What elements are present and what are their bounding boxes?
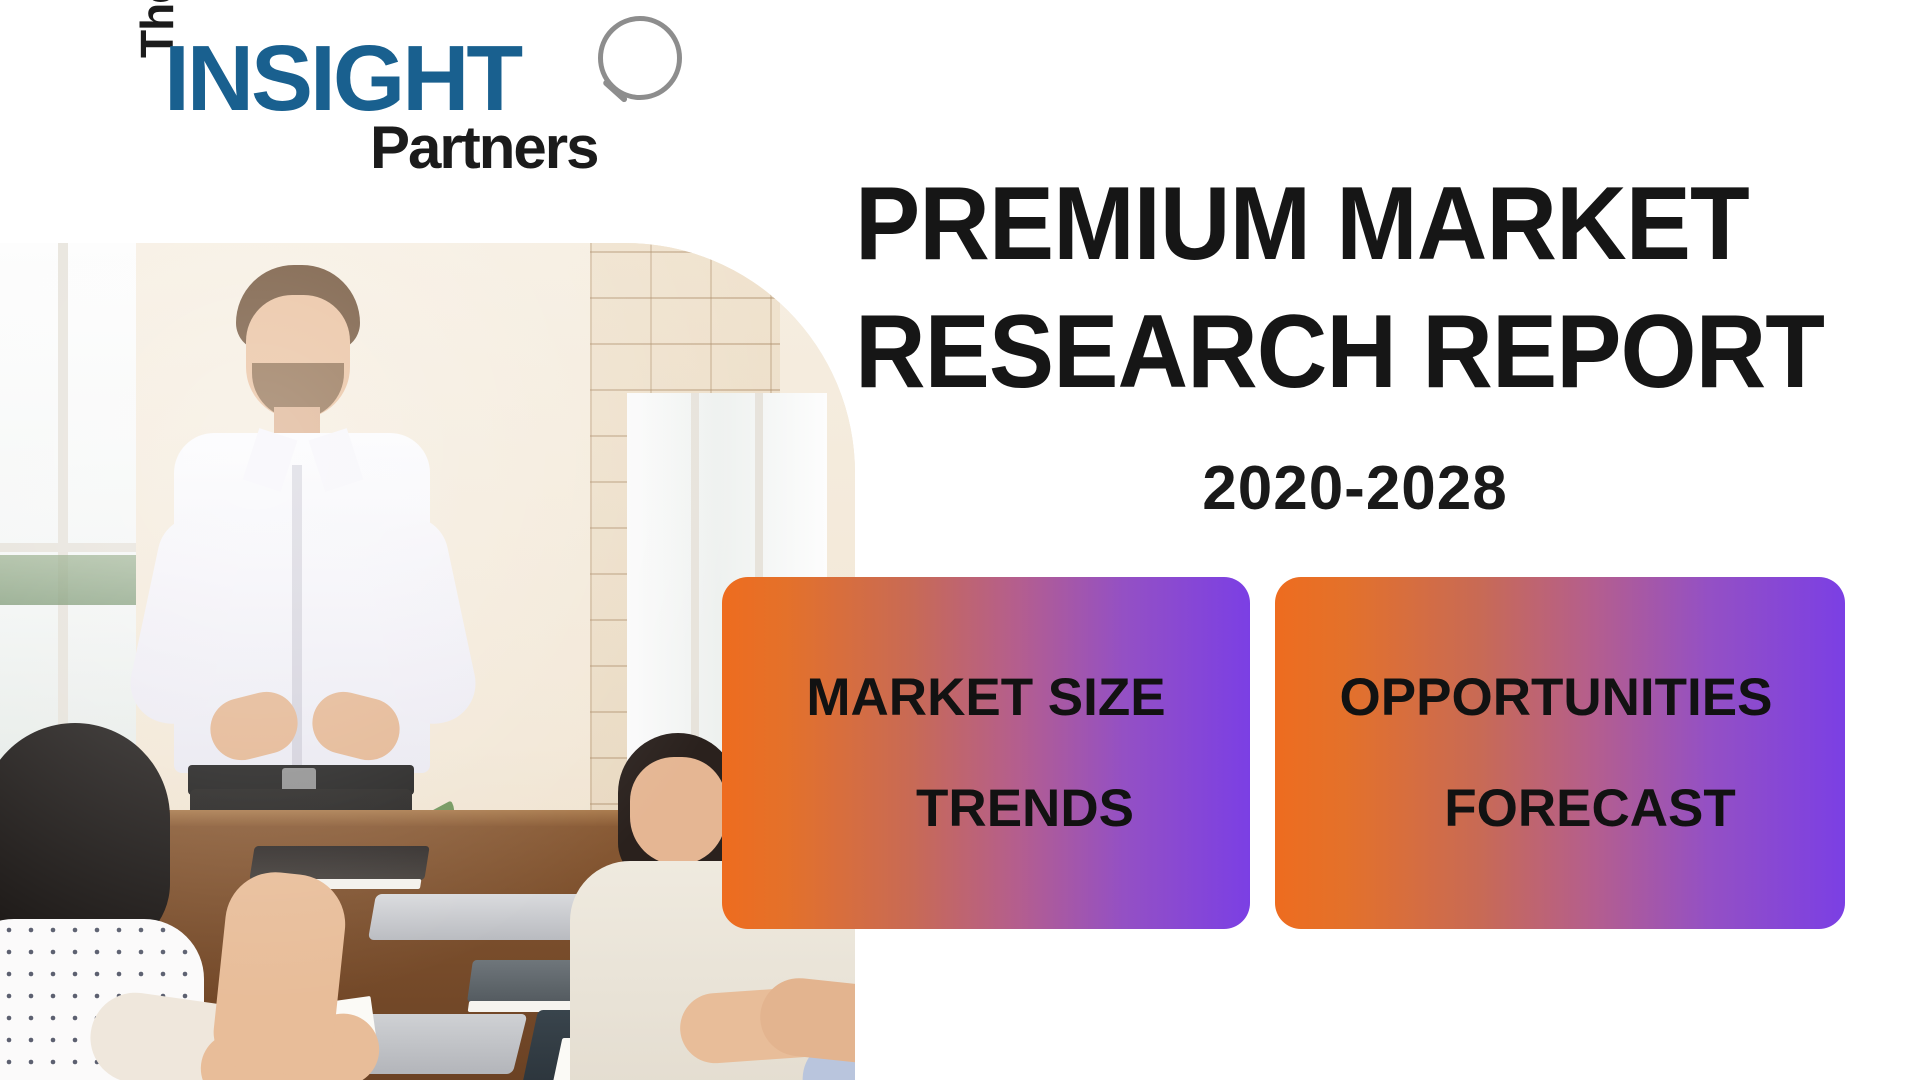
woman-right-face xyxy=(630,757,726,865)
page-title: PREMIUM MARKET RESEARCH REPORT xyxy=(855,160,1795,416)
market-size-card[interactable]: MARKET SIZE TRENDS xyxy=(722,577,1250,929)
headline-line-2: RESEARCH REPORT xyxy=(855,288,1795,416)
card-market-line-bottom: TRENDS xyxy=(756,782,1216,835)
magnifying-glass-icon xyxy=(598,16,682,100)
window-greenery xyxy=(0,555,136,605)
year-range: 2020-2028 xyxy=(855,458,1855,520)
opportunities-card[interactable]: OPPORTUNITIES FORECAST xyxy=(1275,577,1845,929)
headline-line-1: PREMIUM MARKET xyxy=(855,166,1749,282)
woman-left-hand xyxy=(210,867,350,1078)
card-opportunity-line-bottom: FORECAST xyxy=(1309,782,1811,835)
card-market-line-top: MARKET SIZE xyxy=(756,671,1216,724)
logo-insight-text: INSIGHT xyxy=(164,32,520,125)
card-opportunity-line-top: OPPORTUNITIES xyxy=(1309,671,1811,724)
marketing-banner: The INSIGHT Partners xyxy=(0,0,1920,1080)
logo-partners-text: Partners xyxy=(370,118,597,178)
seated-man-right xyxy=(780,943,855,1080)
brand-logo[interactable]: The INSIGHT Partners xyxy=(122,14,702,194)
seated-woman-left xyxy=(0,723,250,1080)
